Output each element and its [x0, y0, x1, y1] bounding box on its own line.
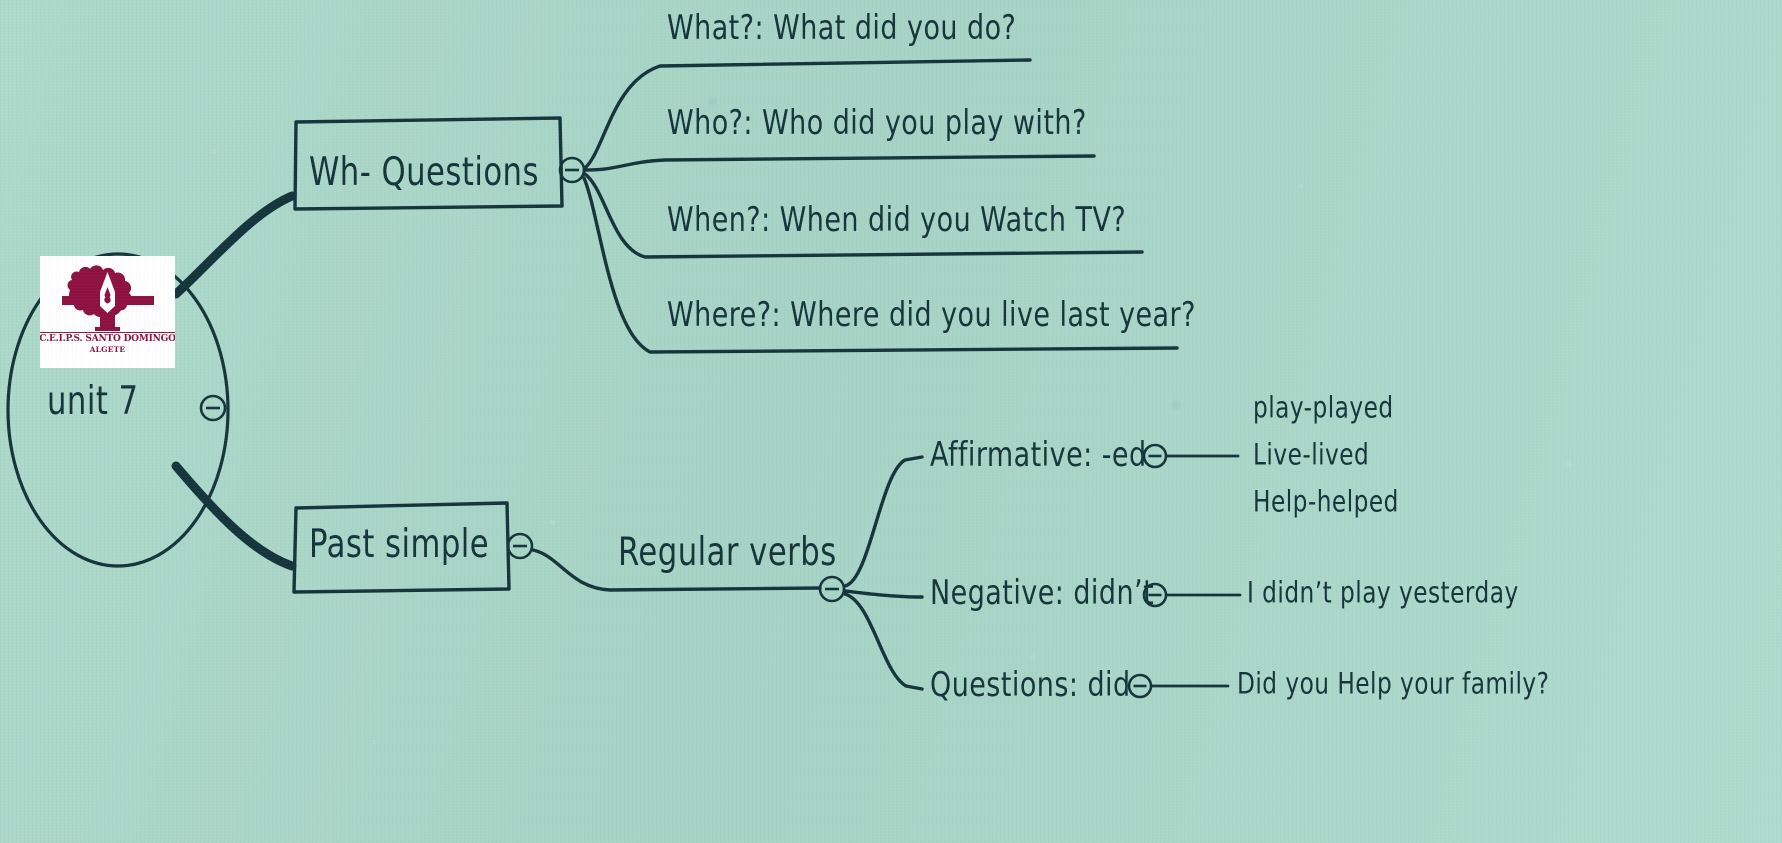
questions-collapse-icon[interactable] — [1129, 675, 1151, 697]
regular-verbs-link-questions — [845, 594, 922, 689]
leaf-when-question[interactable]: When?: When did you Watch TV? — [667, 199, 1126, 239]
leaf-what-question[interactable]: What?: What did you do? — [667, 7, 1016, 47]
mindmap-canvas[interactable]: C.E.I.P.S. SANTO DOMINGO ALGETE unit 7 W… — [0, 0, 1782, 843]
root-node-label[interactable]: unit 7 — [47, 377, 139, 423]
tree-pen-logo-icon — [40, 256, 175, 332]
leaf-questions[interactable]: Questions: did — [930, 664, 1131, 704]
example-help-helped[interactable]: Help-helped — [1253, 484, 1399, 518]
regular-verbs-link-negative — [845, 591, 922, 597]
wh-link-who — [585, 156, 1094, 170]
leaf-negative[interactable]: Negative: didn’t — [930, 572, 1154, 612]
label-regular-verbs[interactable]: Regular verbs — [618, 528, 837, 574]
logo-text-secondary: ALGETE — [90, 345, 126, 354]
example-negative-sentence[interactable]: I didn’t play yesterday — [1247, 575, 1519, 609]
branch-label-past-simple[interactable]: Past simple — [309, 520, 489, 566]
trunk-to-past-simple — [176, 466, 292, 566]
leaf-who-question[interactable]: Who?: Who did you play with? — [667, 102, 1087, 142]
example-live-lived[interactable]: Live-lived — [1253, 437, 1369, 471]
affirmative-collapse-icon[interactable] — [1144, 445, 1166, 467]
trunk-to-wh-questions — [176, 196, 292, 294]
example-question-sentence[interactable]: Did you Help your family? — [1237, 666, 1549, 700]
school-logo: C.E.I.P.S. SANTO DOMINGO ALGETE — [40, 256, 175, 368]
logo-text-primary: C.E.I.P.S. SANTO DOMINGO — [40, 332, 175, 344]
branch-label-wh-questions[interactable]: Wh- Questions — [309, 148, 539, 194]
leaf-where-question[interactable]: Where?: Where did you live last year? — [667, 294, 1196, 334]
leaf-affirmative[interactable]: Affirmative: -ed — [930, 434, 1147, 474]
example-play-played[interactable]: play-played — [1253, 390, 1394, 424]
root-collapse-icon[interactable] — [201, 396, 225, 420]
past-simple-collapse-icon[interactable] — [508, 534, 532, 558]
regular-verbs-link-affirmative — [845, 457, 922, 586]
regular-verbs-collapse-icon[interactable] — [820, 577, 844, 601]
wh-questions-collapse-icon[interactable] — [560, 158, 584, 182]
